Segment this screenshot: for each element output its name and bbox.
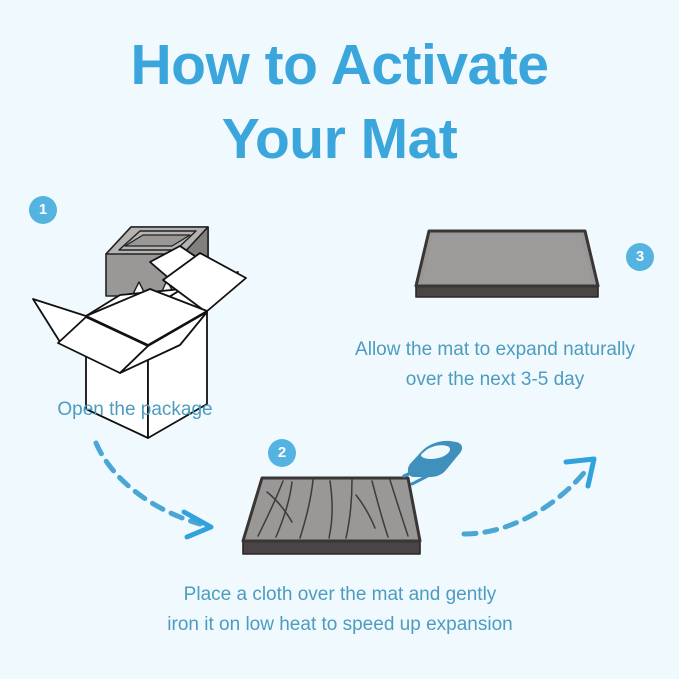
step-3-caption: Allow the mat to expand naturally over t… xyxy=(315,335,675,395)
page-title: How to Activate Your Mat xyxy=(0,28,679,176)
arrow-step1-to-step2 xyxy=(96,443,211,537)
step-2-caption-line-2: iron it on low heat to speed up expansio… xyxy=(110,610,570,640)
title-line-2: Your Mat xyxy=(0,102,679,176)
step-2-caption: Place a cloth over the mat and gently ir… xyxy=(110,580,570,640)
title-line-1: How to Activate xyxy=(0,28,679,102)
step-badge-3: 3 xyxy=(626,243,654,271)
step-badge-2: 2 xyxy=(268,439,296,467)
step-2-caption-line-1: Place a cloth over the mat and gently xyxy=(110,580,570,610)
wrinkled-mat-icon xyxy=(243,478,420,554)
flat-expanded-mat-icon xyxy=(416,231,598,297)
arrow-step2-to-step3 xyxy=(464,459,594,534)
step-3-caption-line-2: over the next 3-5 day xyxy=(315,365,675,395)
step-badge-1: 1 xyxy=(29,196,57,224)
step-1-caption-line-1: Open the package xyxy=(10,395,260,425)
clothes-iron-icon xyxy=(404,441,462,484)
step-3-caption-line-1: Allow the mat to expand naturally xyxy=(315,335,675,365)
infographic-root: How to Activate Your Mat xyxy=(0,0,679,679)
step-1-caption: Open the package xyxy=(10,395,260,425)
